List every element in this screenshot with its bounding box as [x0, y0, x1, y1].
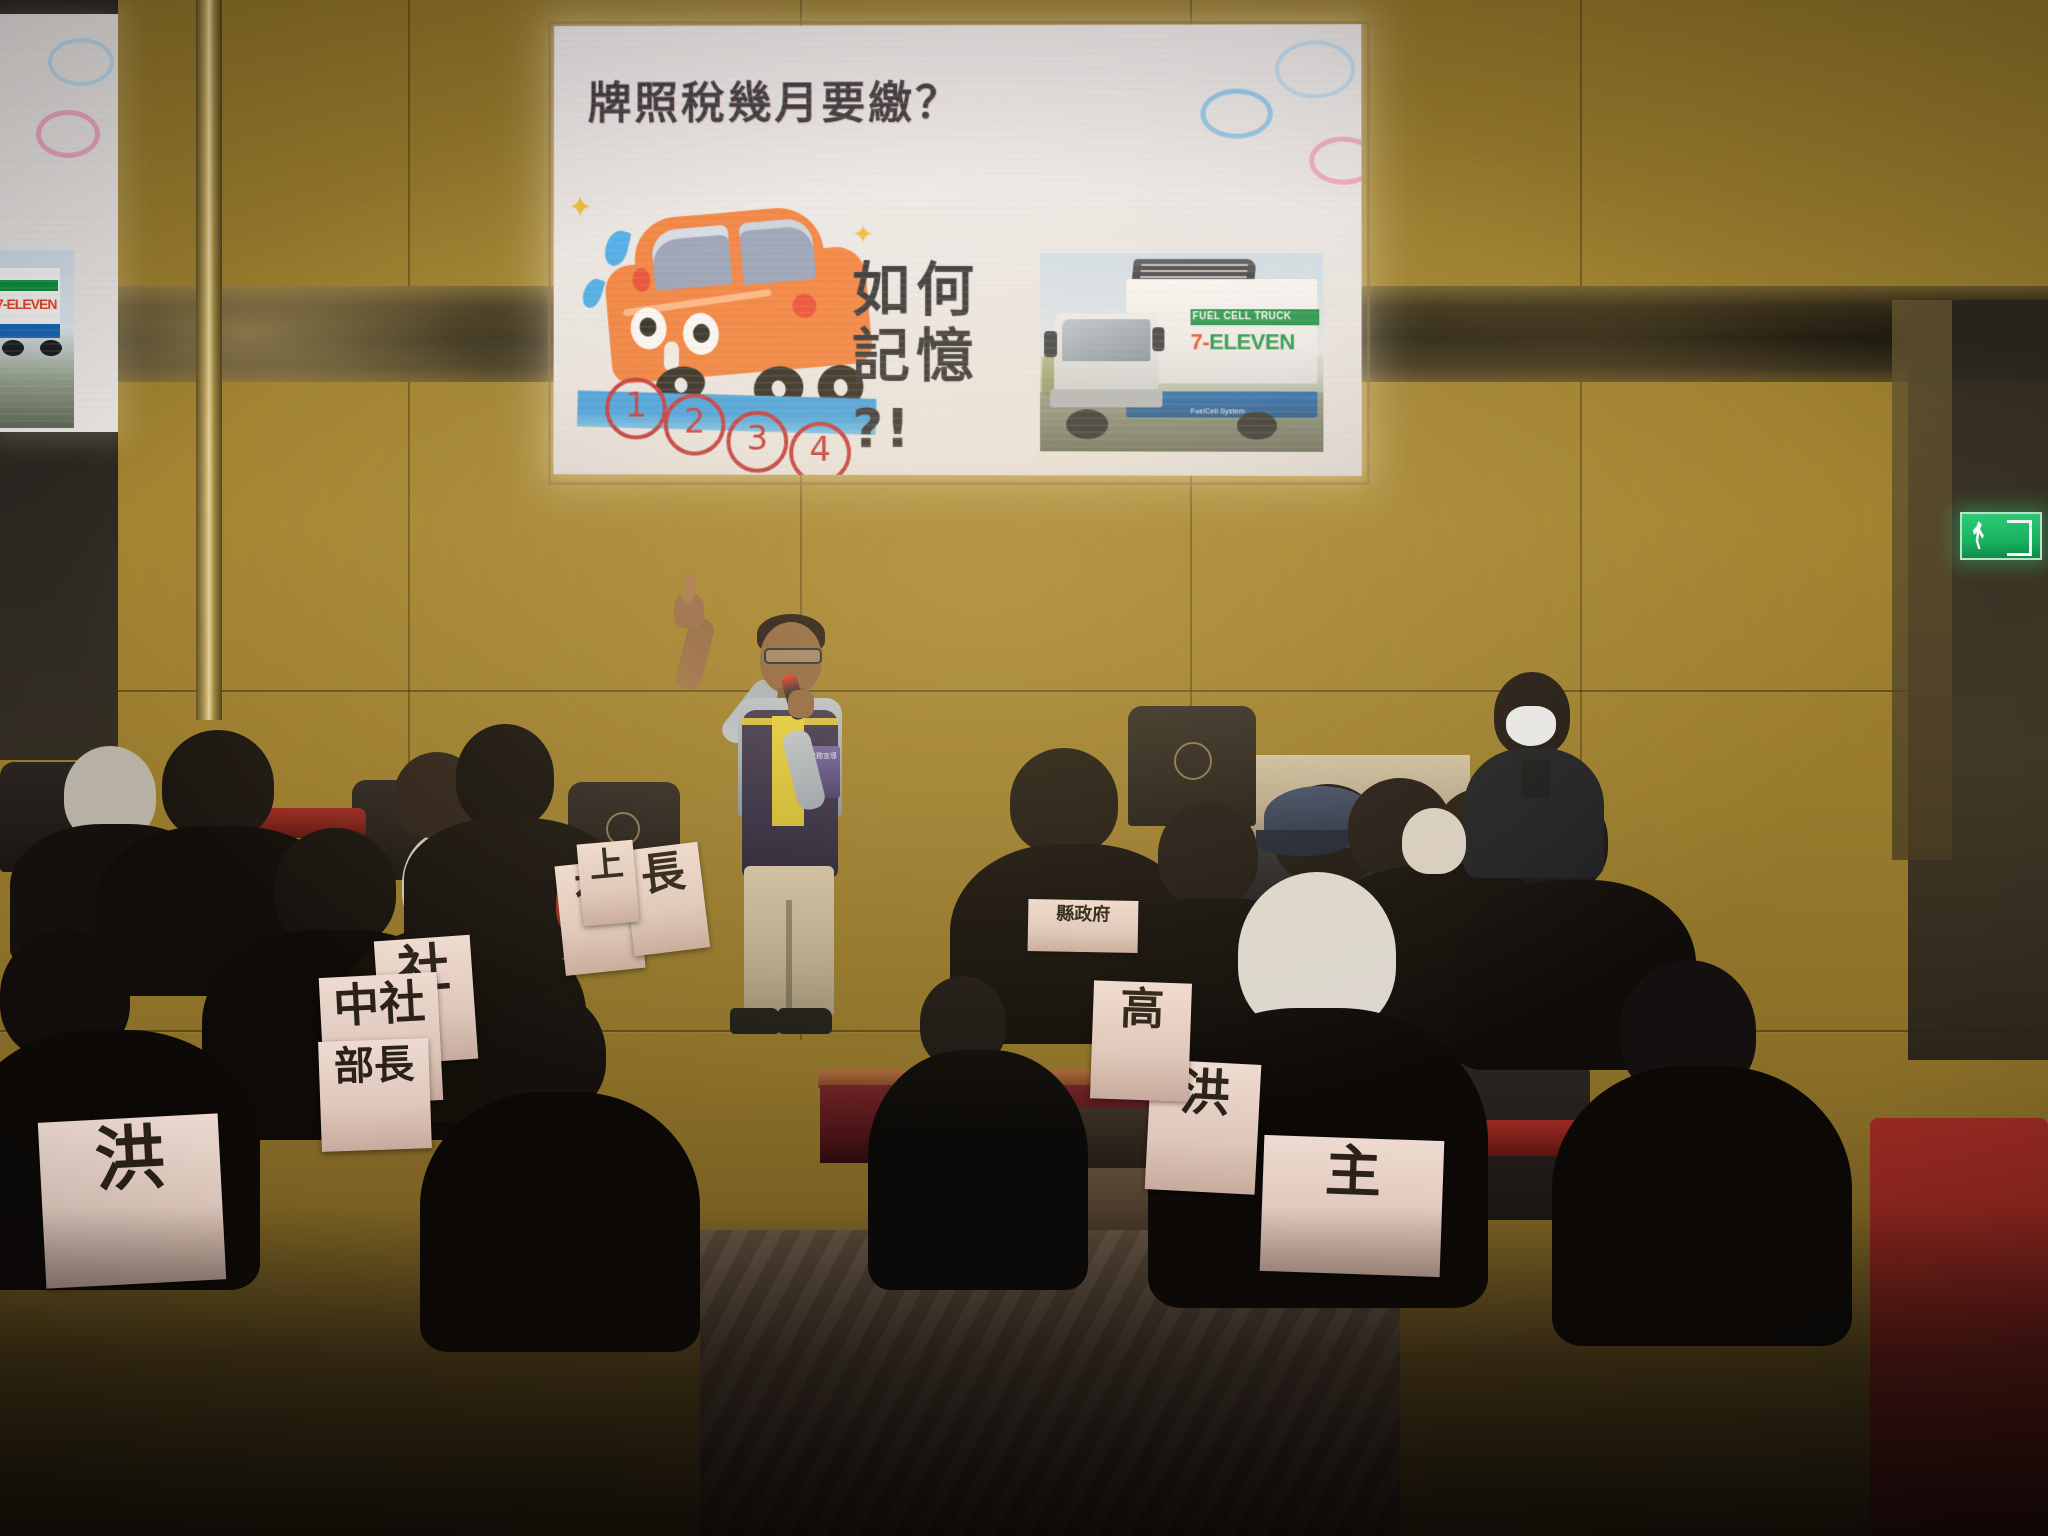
photo-scene: 7-ELEVEN 牌照稅幾月要繳？	[0, 0, 2048, 1536]
photo-vignette	[0, 0, 2048, 1536]
